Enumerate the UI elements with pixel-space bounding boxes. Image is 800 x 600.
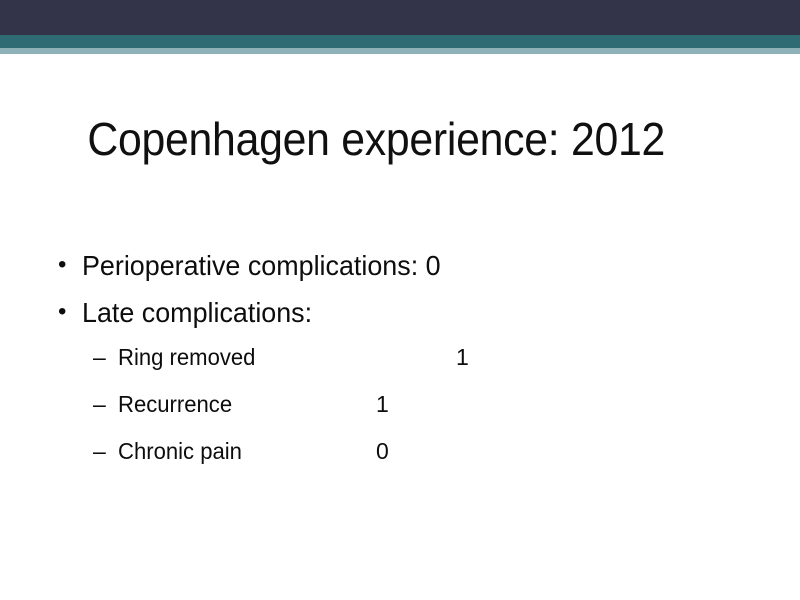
bullet-dash-icon: – — [93, 346, 106, 369]
bullet-item-perioperative: • Perioperative complications: 0 — [50, 252, 750, 280]
sub-bullet-value: 0 — [376, 440, 389, 463]
bullet-dot-icon: • — [58, 299, 66, 324]
slide-canvas: Copenhagen experience: 2012 • Perioperat… — [0, 0, 800, 600]
sub-bullet-item-recurrence: – Recurrence 1 — [50, 393, 750, 419]
banner-dark-navy-band — [0, 0, 800, 35]
bullet-dash-icon: – — [93, 393, 106, 416]
sub-bullet-value: 1 — [456, 346, 469, 369]
sub-bullet-item-ring-removed: – Ring removed 1 — [50, 346, 750, 372]
banner-teal-band — [0, 35, 800, 48]
sub-bullet-label: Ring removed — [118, 346, 255, 369]
bullet-item-late-complications: • Late complications: — [50, 299, 750, 327]
sub-bullet-label: Recurrence — [118, 393, 232, 416]
sub-bullet-value: 1 — [376, 393, 389, 416]
slide-body-content: • Perioperative complications: 0 • Late … — [50, 252, 750, 487]
sub-bullet-list: – Ring removed 1 – Recurrence 1 – Chroni… — [50, 346, 750, 466]
banner-light-teal-band — [0, 48, 800, 54]
bullet-dash-icon: – — [93, 440, 106, 463]
sub-bullet-label: Chronic pain — [118, 440, 242, 463]
bullet-label: Perioperative complications: 0 — [82, 252, 441, 280]
bullet-label: Late complications: — [82, 299, 312, 327]
sub-bullet-item-chronic-pain: – Chronic pain 0 — [50, 440, 750, 466]
slide-title: Copenhagen experience: 2012 — [60, 114, 692, 165]
slide-top-banner — [0, 0, 800, 54]
bullet-dot-icon: • — [58, 252, 66, 277]
